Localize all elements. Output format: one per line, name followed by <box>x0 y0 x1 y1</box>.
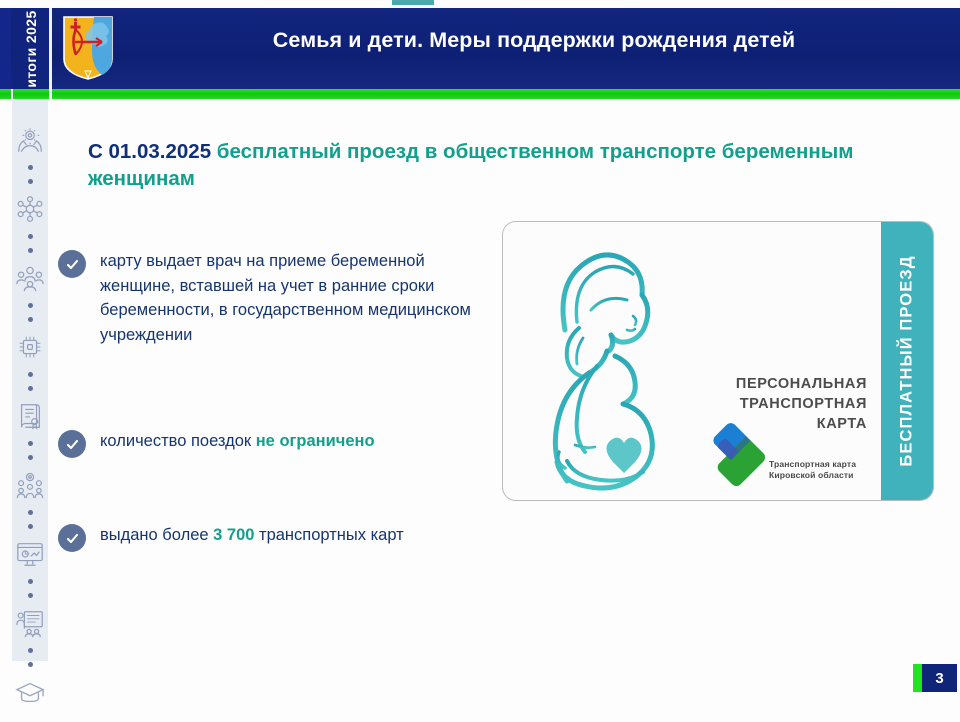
bullet-3-count: 3 700 <box>213 526 254 544</box>
sidebar-item-monitor-chart[interactable] <box>15 539 45 569</box>
deck-vertical-label: итоги 2025 <box>13 8 49 89</box>
card-free-travel-strip: БЕСПЛАТНЫЙ ПРОЕЗД <box>881 222 933 500</box>
bullet-item-1: карту выдает врач на приеме беременной ж… <box>58 249 478 347</box>
sidebar-item-certificate-scroll[interactable] <box>15 401 45 431</box>
card-logo-line2: Кировской области <box>769 470 899 481</box>
sidebar-dots-6 <box>28 510 33 529</box>
bullet-3-suffix: транспортных карт <box>254 526 403 544</box>
sidebar-dots-4 <box>28 372 33 391</box>
check-glyph <box>65 531 80 546</box>
bullet-text-1: карту выдает врач на приеме беременной ж… <box>100 249 478 347</box>
sidebar-dot <box>28 441 33 446</box>
sidebar-dot <box>28 179 33 184</box>
bullet-text-3: выдано более 3 700 транспортных карт <box>100 523 404 548</box>
sidebar-dots-3 <box>28 303 33 322</box>
sidebar-item-gear-in-hands[interactable] <box>15 125 45 155</box>
sidebar-item-presentation-board[interactable] <box>15 608 45 638</box>
sidebar-item-people-group[interactable] <box>15 263 45 293</box>
transport-card-logo-icon <box>699 420 771 492</box>
sidebar-dot <box>28 579 33 584</box>
card-title-line1: ПЕРСОНАЛЬНАЯ <box>687 374 867 394</box>
sidebar-dot <box>28 386 33 391</box>
sidebar-dot <box>28 593 33 598</box>
pregnant-woman-line-art-icon <box>529 234 719 492</box>
deck-vertical-label-text: итоги 2025 <box>23 10 39 87</box>
heart-glyph <box>606 438 641 473</box>
sidebar-dot <box>28 165 33 170</box>
sidebar-dots-5 <box>28 441 33 460</box>
sidebar-item-graduation-cap[interactable] <box>15 677 45 707</box>
heading-date: С 01.03.2025 <box>88 140 211 163</box>
bullet-3-prefix: выдано более <box>100 526 213 544</box>
card-logo-caption: Транспортная карта Кировской области <box>769 459 899 481</box>
bullet-2-highlight: не ограничено <box>256 432 375 450</box>
page-badge-accent <box>913 664 922 692</box>
bullet-2-prefix: количество поездок <box>100 432 256 450</box>
transport-card-image: ПЕРСОНАЛЬНАЯ ТРАНСПОРТНАЯ КАРТА Транспор… <box>502 221 934 501</box>
check-glyph <box>65 437 80 452</box>
green-band-gap-right <box>49 89 52 99</box>
sidebar-dots-8 <box>28 648 33 667</box>
sidebar-dots-7 <box>28 579 33 598</box>
sidebar-dot <box>28 303 33 308</box>
check-glyph <box>65 257 80 272</box>
header-left-strip <box>0 8 11 89</box>
sidebar-item-microchip[interactable] <box>15 332 45 362</box>
page-number: 3 <box>922 664 957 692</box>
sidebar-dot <box>28 372 33 377</box>
kirov-coat-of-arms-icon <box>62 15 114 81</box>
sidebar-icon-rail <box>12 99 48 661</box>
card-title-line2: ТРАНСПОРТНАЯ <box>687 394 867 414</box>
bullet-item-2: количество поездок не ограничено <box>58 429 488 458</box>
sidebar-dot <box>28 317 33 322</box>
sidebar-item-people-gears[interactable] <box>15 470 45 500</box>
page-title: Семья и дети. Меры поддержки рождения де… <box>180 0 900 81</box>
page-number-badge: 3 <box>913 664 957 692</box>
sidebar-dot <box>28 524 33 529</box>
green-band-gap-left <box>11 89 13 99</box>
check-circle-icon <box>58 250 86 278</box>
sidebar-dot <box>28 662 33 667</box>
sidebar-dot <box>28 234 33 239</box>
check-circle-icon <box>58 430 86 458</box>
sidebar-dots-2 <box>28 234 33 253</box>
sidebar-item-molecule-network[interactable] <box>15 194 45 224</box>
card-logo-line1: Транспортная карта <box>769 459 899 470</box>
check-circle-icon <box>58 524 86 552</box>
sidebar-dot <box>28 510 33 515</box>
bullet-text-2: количество поездок не ограничено <box>100 429 375 454</box>
sidebar-icon-rail-inner <box>12 99 48 707</box>
slide-heading: С 01.03.2025 бесплатный проезд в обществ… <box>88 138 888 192</box>
accent-green-band <box>0 89 960 99</box>
sidebar-dot <box>28 248 33 253</box>
sidebar-dots-1 <box>28 165 33 184</box>
sidebar-dot <box>28 455 33 460</box>
sidebar-dot <box>28 648 33 653</box>
card-strip-text: БЕСПЛАТНЫЙ ПРОЕЗД <box>898 255 917 466</box>
bullet-item-3: выдано более 3 700 транспортных карт <box>58 523 508 552</box>
